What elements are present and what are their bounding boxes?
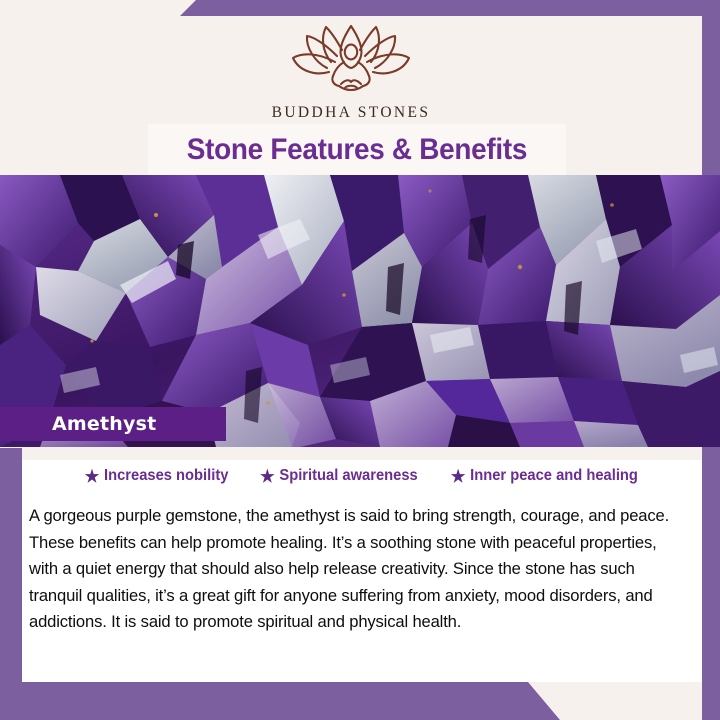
star-icon: ★ [451, 468, 465, 485]
stone-name-badge: Amethyst [0, 407, 226, 441]
infographic-page: BUDDHA STONES Stone Features & Benefits [0, 0, 720, 720]
top-accent-band [180, 0, 720, 16]
star-icon: ★ [260, 468, 274, 485]
bottom-accent-band [0, 682, 560, 720]
benefit-item: ★ Inner peace and healing [451, 467, 638, 485]
star-icon: ★ [85, 468, 99, 485]
left-accent-border [0, 448, 22, 720]
content-card: ★ Increases nobility ★ Spiritual awarene… [22, 447, 702, 682]
card-top-strip [22, 447, 702, 460]
title-panel: Stone Features & Benefits [148, 124, 566, 175]
benefit-label: Increases nobility [104, 467, 228, 485]
benefit-item: ★ Spiritual awareness [260, 467, 418, 485]
brand-logo: BUDDHA STONES [0, 22, 702, 122]
benefit-item: ★ Increases nobility [85, 467, 229, 485]
lotus-meditation-icon [277, 22, 425, 100]
benefits-list: ★ Increases nobility ★ Spiritual awarene… [22, 467, 702, 485]
header: BUDDHA STONES Stone Features & Benefits [0, 16, 702, 175]
page-title: Stone Features & Benefits [187, 133, 527, 167]
hero-image: Amethyst [0, 175, 720, 447]
brand-name: BUDDHA STONES [272, 104, 431, 122]
benefit-label: Spiritual awareness [280, 467, 418, 485]
benefit-label: Inner peace and healing [470, 467, 638, 485]
stone-description: A gorgeous purple gemstone, the amethyst… [29, 503, 688, 636]
stone-name-label: Amethyst [52, 413, 156, 435]
